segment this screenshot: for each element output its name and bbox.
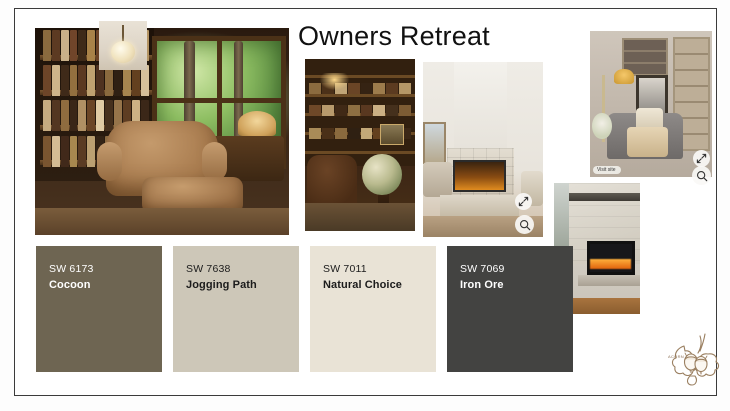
image-library-globe[interactable] <box>305 59 415 231</box>
arc-lamp-shade <box>614 69 634 84</box>
floor <box>35 208 289 235</box>
leather-chesterfield-chair <box>307 155 357 207</box>
visit-site-label[interactable]: Visit site <box>593 166 621 174</box>
acorn-illustration[interactable]: ACORN <box>660 322 728 390</box>
swatch-name: Natural Choice <box>323 279 402 291</box>
acorn-caption: ACORN <box>668 354 684 359</box>
swatch-code: SW 7638 <box>186 263 231 275</box>
swatch-name: Cocoon <box>49 279 91 291</box>
moodboard-slide: Owners Retreat <box>14 8 717 396</box>
image-chandelier-inset[interactable] <box>99 21 147 70</box>
swatch-iron-ore[interactable]: SW 7069 Iron Ore <box>447 246 573 372</box>
framed-art <box>380 124 404 145</box>
sofa <box>423 162 452 197</box>
throw-blanket <box>627 127 668 156</box>
swatch-name: Jogging Path <box>186 279 257 291</box>
image-library-armchair[interactable] <box>35 28 289 235</box>
table-lamp <box>238 111 276 136</box>
flower-arrangement <box>592 113 612 139</box>
swatch-code: SW 6173 <box>49 263 94 275</box>
magnifier-icon[interactable] <box>692 166 711 185</box>
flame <box>590 259 631 269</box>
swatch-code: SW 7011 <box>323 263 367 275</box>
image-fireplace-white[interactable] <box>423 62 543 237</box>
swatch-name: Iron Ore <box>460 279 504 291</box>
wood-floor <box>569 298 640 314</box>
chandelier-globe <box>111 41 135 63</box>
expand-arrow-icon[interactable] <box>515 193 532 210</box>
magnifier-icon[interactable] <box>515 215 534 234</box>
swatch-code: SW 7069 <box>460 263 505 275</box>
firebox <box>587 241 635 275</box>
firebox <box>453 160 506 192</box>
book-row <box>309 105 410 116</box>
candle-glow <box>320 73 349 90</box>
page-title: Owners Retreat <box>298 21 490 52</box>
area-rug <box>305 203 415 231</box>
swatch-natural-choice[interactable]: SW 7011 Natural Choice <box>310 246 436 372</box>
window <box>423 122 446 164</box>
hearth-ledge <box>578 275 640 287</box>
screenshot-canvas: Owners Retreat <box>0 0 730 411</box>
color-swatch-row: SW 6173 Cocoon SW 7638 Jogging Path SW 7… <box>36 246 573 372</box>
ceiling-beam <box>569 193 640 201</box>
expand-arrow-icon[interactable] <box>693 150 710 167</box>
swatch-jogging-path[interactable]: SW 7638 Jogging Path <box>173 246 299 372</box>
swatch-cocoon[interactable]: SW 6173 Cocoon <box>36 246 162 372</box>
chimney-breast <box>454 62 507 153</box>
exterior-view <box>554 183 570 246</box>
hearth <box>440 195 519 216</box>
world-globe <box>362 154 402 195</box>
